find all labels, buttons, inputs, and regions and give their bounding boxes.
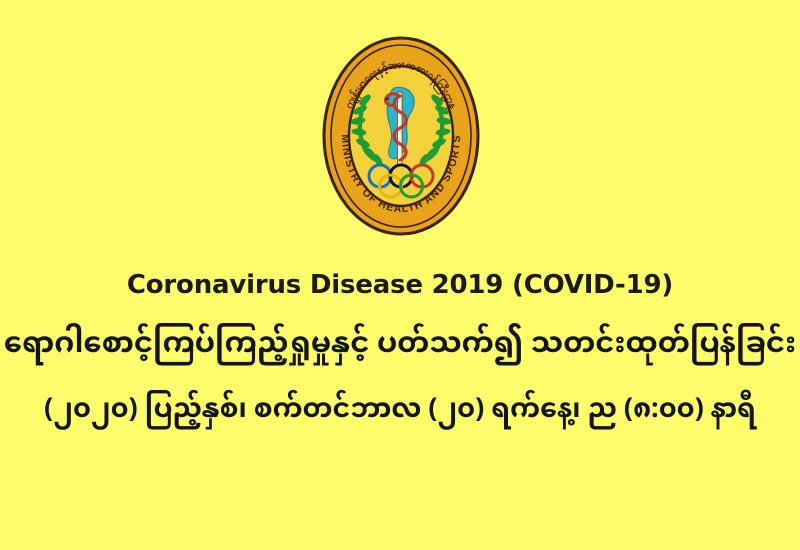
page-subtitle-burmese: ရောဂါစောင့်ကြပ်ကြည့်ရှုမှုနှင့် ပတ်သက်၍ … (0, 318, 800, 374)
ministry-seal: ကျန်းမာရေးနှင့်အားကစားဝန်ကြီးဌာန MINISTR… (322, 36, 480, 236)
page-title-english: Coronavirus Disease 2019 (COVID-19) (0, 268, 800, 302)
page-datetime-burmese: (၂၀၂၀) ပြည့်နှစ်၊ စက်တင်ဘာလ (၂၀) ရက်နေ့၊… (0, 384, 800, 440)
covid-press-release-poster: ကျန်းမာရေးနှင့်အားကစားဝန်ကြီးဌာန MINISTR… (0, 0, 800, 550)
headline-block: Coronavirus Disease 2019 (COVID-19) ရောဂ… (0, 268, 800, 440)
